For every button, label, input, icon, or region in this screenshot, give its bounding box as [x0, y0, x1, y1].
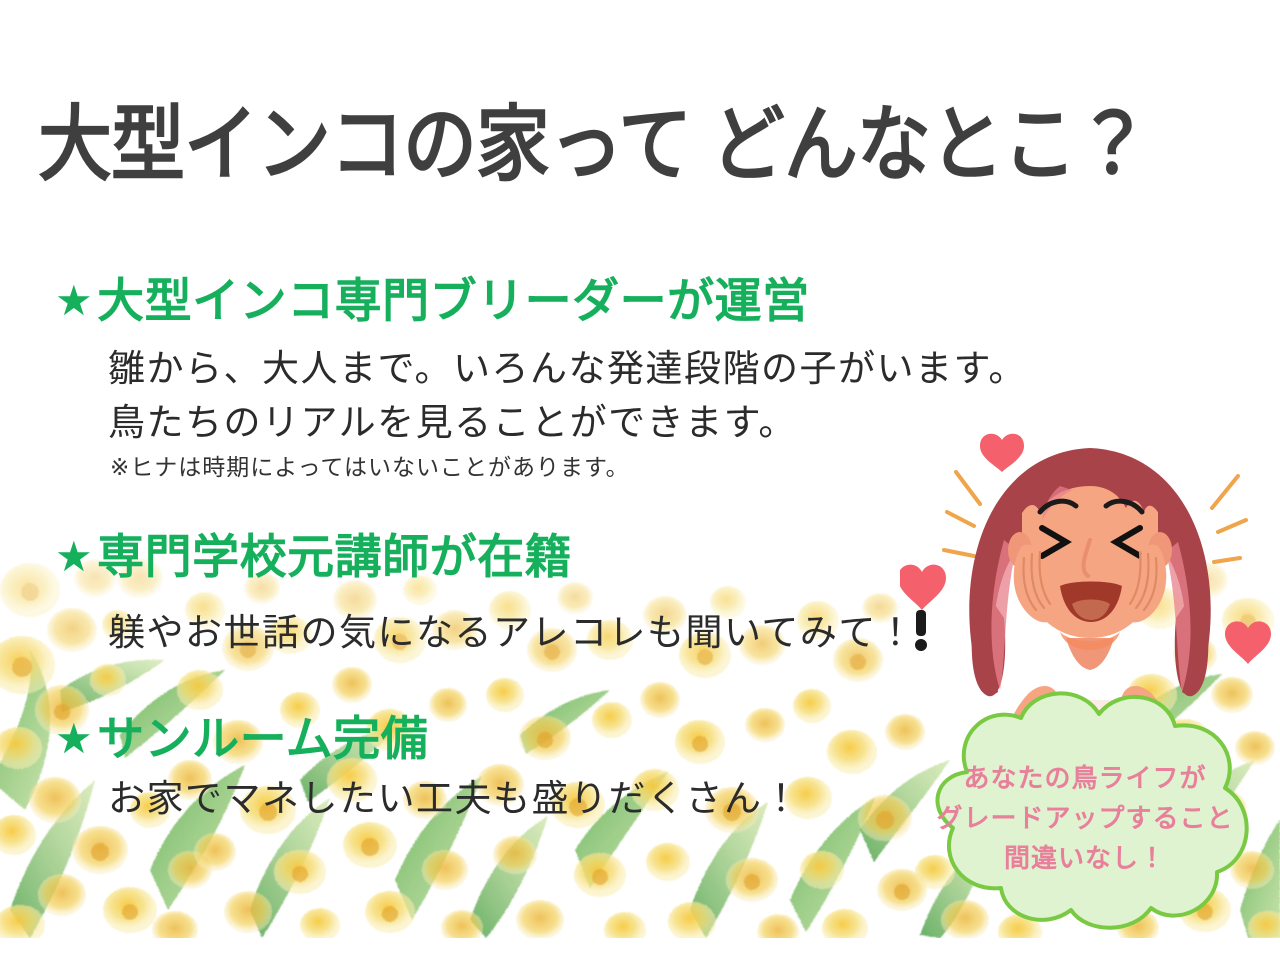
- feature-heading-text-3: サンルーム完備: [97, 712, 428, 765]
- speech-bubble: あなたの鳥ライフが グレードアップすること 間違いなし！: [905, 680, 1265, 935]
- feature-note-1: ※ヒナは時期によってはいないことがあります。: [110, 448, 630, 482]
- feature-heading-2: ★専門学校元講師が在籍: [55, 518, 572, 587]
- heart-icon: [1225, 621, 1271, 664]
- star-icon: ★: [55, 533, 93, 580]
- star-icon: ★: [55, 715, 93, 762]
- feature-heading-text-2: 専門学校元講師が在籍: [97, 530, 572, 583]
- feature-heading-1: ★大型インコ専門ブリーダーが運営: [55, 262, 810, 331]
- exclamation-icon: [915, 610, 927, 651]
- heart-icon: [900, 565, 946, 610]
- feature-body-1-line-2: 鳥たちのリアルを見ることができます。: [108, 392, 797, 446]
- speech-bubble-line-1: あなたの鳥ライフが: [905, 758, 1265, 798]
- heart-icon: [980, 434, 1024, 472]
- speech-bubble-line-3: 間違いなし！: [905, 838, 1265, 878]
- feature-heading-text-1: 大型インコ専門ブリーダーが運営: [97, 274, 810, 327]
- page-title: 大型インコの家って どんなとこ？: [38, 78, 1149, 198]
- feature-body-1-line-1: 雛から、大人まで。いろんな発達段階の子がいます。: [108, 338, 1027, 392]
- speech-bubble-text: あなたの鳥ライフが グレードアップすること 間違いなし！: [905, 758, 1265, 878]
- speech-bubble-line-2: グレードアップすること: [905, 798, 1265, 838]
- star-icon: ★: [55, 277, 93, 324]
- feature-body-3-line-1: お家でマネしたい工夫も盛りだくさん！: [108, 768, 801, 822]
- poster-canvas: 大型インコの家って どんなとこ？ ★大型インコ専門ブリーダーが運営 雛から、大人…: [0, 0, 1280, 960]
- feature-body-2-line-1: 躾やお世話の気になるアレコレも聞いてみて！: [108, 602, 915, 656]
- feature-heading-3: ★サンルーム完備: [55, 700, 428, 769]
